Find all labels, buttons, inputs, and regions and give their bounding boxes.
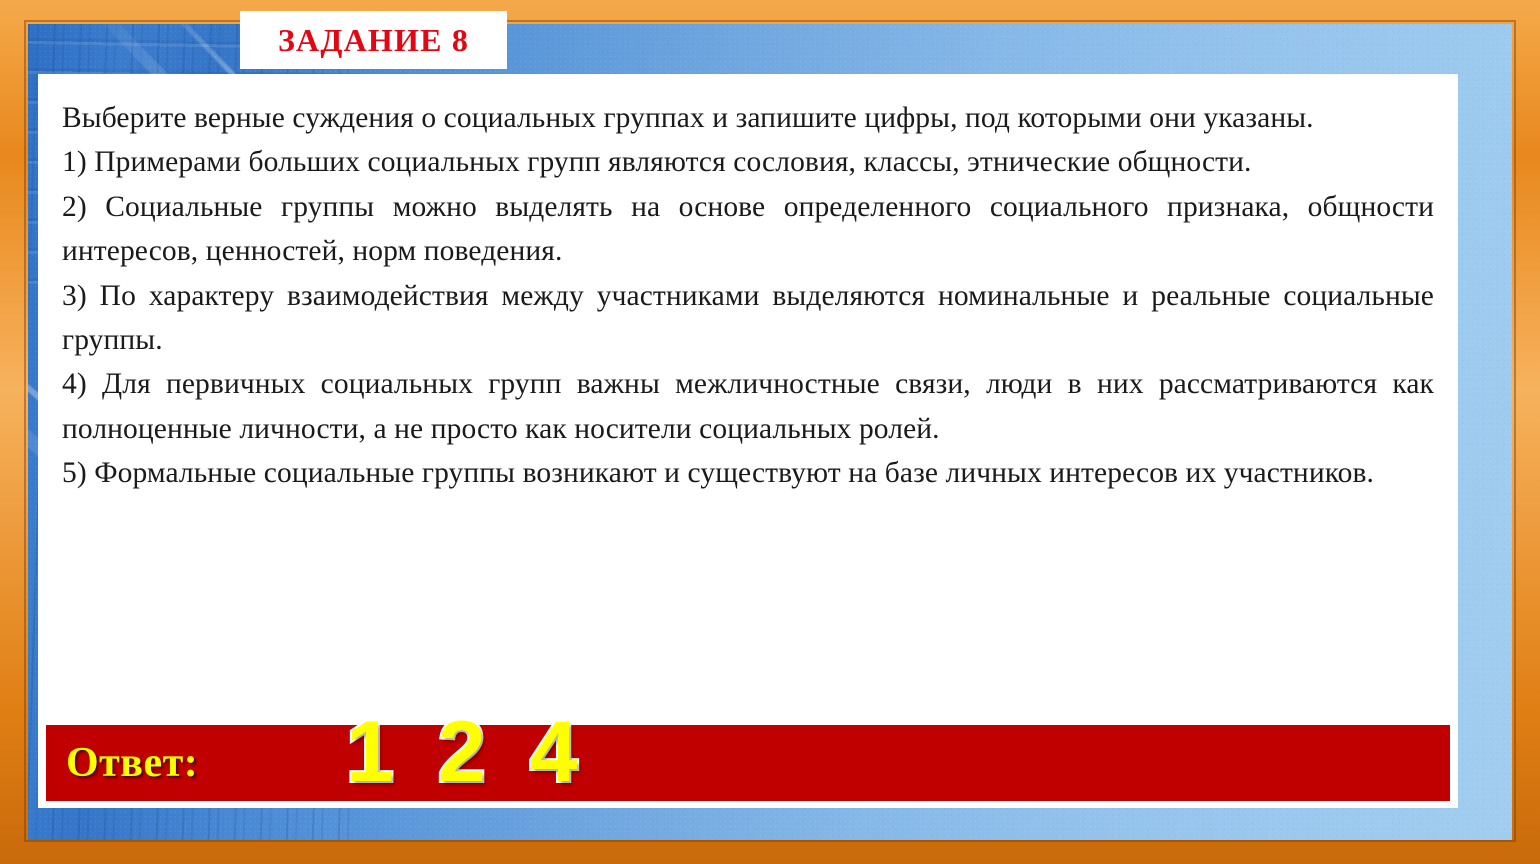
answer-digits: 1 2 4 [346,709,578,795]
answer-digit-2: 2 [438,709,486,795]
question-option-4: 4) Для первичных социальных групп важны … [62,362,1434,451]
question-option-3: 3) По характеру взаимодействия между уча… [62,274,1434,363]
answer-bar-container: Ответ: 1 2 4 [38,718,1458,808]
task-title-badge: ЗАДАНИЕ 8 [240,11,507,69]
answer-bar: Ответ: 1 2 4 [46,725,1450,801]
answer-digit-3: 4 [530,709,578,795]
task-title-label: ЗАДАНИЕ 8 [278,22,469,59]
question-prompt: Выберите верные суждения о социальных гр… [62,96,1434,140]
question-option-5: 5) Формальные социальные группы возникаю… [62,451,1434,495]
question-option-1: 1) Примерами больших социальных групп яв… [62,140,1434,184]
answer-digit-1: 1 [346,709,394,795]
question-option-2: 2) Социальные группы можно выделять на о… [62,185,1434,274]
slide-frame: ЗАДАНИЕ 8 Выберите верные суждения о соц… [0,0,1540,864]
answer-label: Ответ: [66,742,198,784]
question-content-box: Выберите верные суждения о социальных гр… [38,74,1458,722]
